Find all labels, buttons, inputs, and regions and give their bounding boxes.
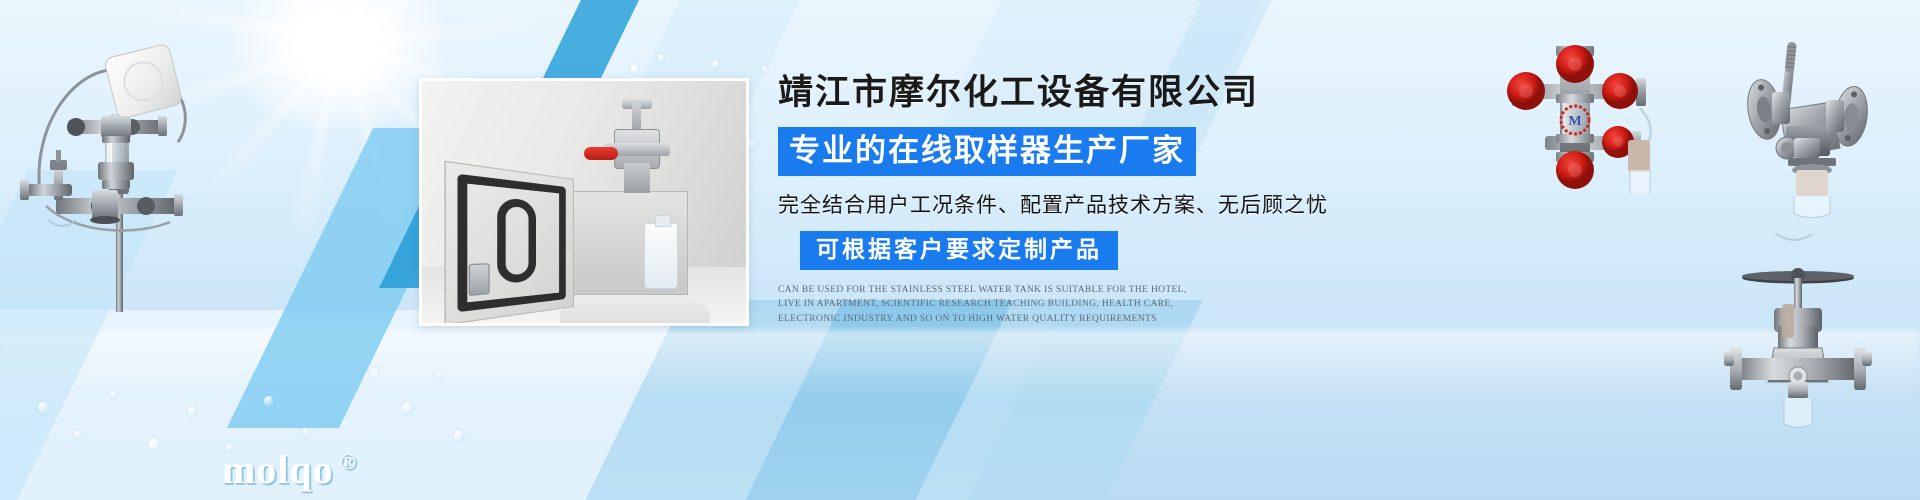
registered-mark-icon: ® [340,449,357,474]
product-wheel-handle-valve [1718,230,1903,430]
product-photo-cabinet-sampler [419,78,749,326]
water-droplets-wedge [358,352,478,472]
product-pole-mounted-sampler [6,22,206,312]
subline-description: 完全结合用户工况条件、配置产品技术方案、无后顾之忧 [778,189,1398,219]
sunburst-core-icon [232,0,442,130]
product-lever-handle-valve [1714,30,1904,230]
headline-secondary: 可根据客户要求定制产品 [800,231,1118,270]
background-wedge-pale [0,310,1060,500]
svg-text:M: M [1568,114,1581,129]
background-wedge-accent [677,300,1013,500]
english-caption: CAN BE USED FOR THE STAINLESS STEEL WATE… [778,283,1190,327]
background-wedge-mid [517,300,1203,500]
company-title: 靖江市摩尔化工设备有限公司 [778,74,1398,113]
product-cross-valve-manifold: M [1490,28,1690,193]
headline-primary: 专业的在线取样器生产厂家 [778,127,1196,176]
promo-banner: 靖江市摩尔化工设备有限公司 专业的在线取样器生产厂家 完全结合用户工况条件、配置… [0,0,1920,500]
background-horizon-band [0,330,1920,400]
banner-text-block: 靖江市摩尔化工设备有限公司 专业的在线取样器生产厂家 完全结合用户工况条件、配置… [778,74,1398,327]
watermark-logo: molqo® [222,446,357,493]
watermark-text: molqo [222,447,334,492]
